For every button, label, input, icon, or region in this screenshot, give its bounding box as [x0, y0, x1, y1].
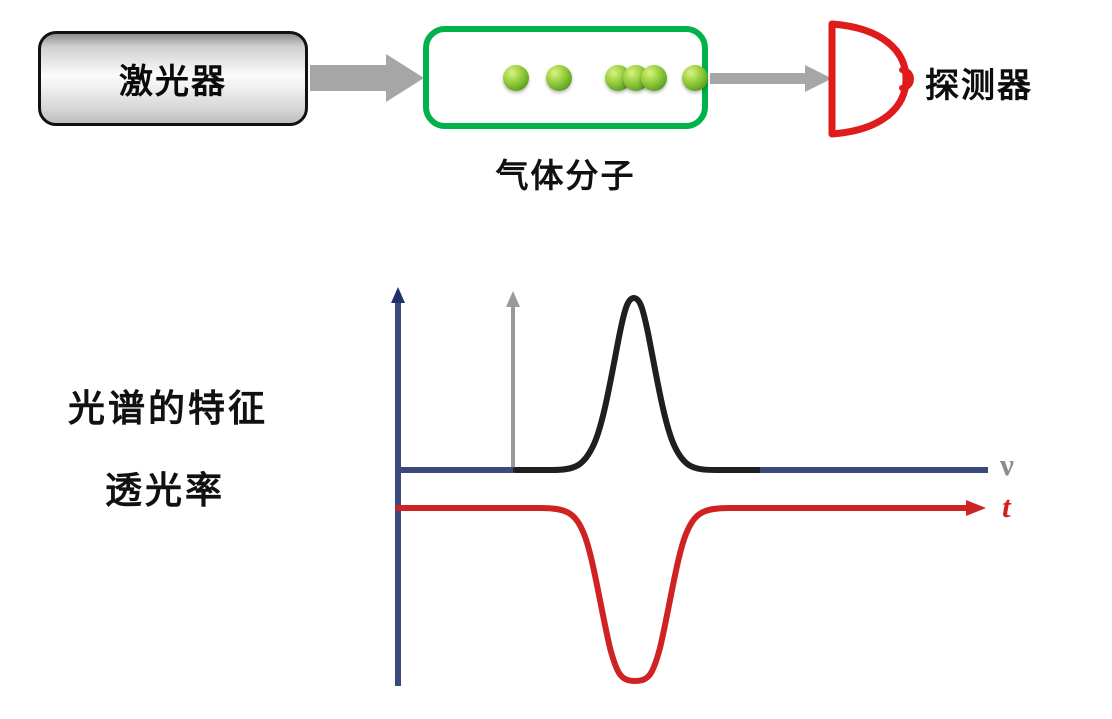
- plot-vector-layer: [0, 0, 1112, 719]
- diagram-canvas: 激光器 气体分子 探测器 光谱的特征 透光率: [0, 0, 1112, 719]
- transmission-dip-curve: [398, 500, 986, 681]
- time-axis-label: t: [1002, 489, 1011, 525]
- absorption-peak-curve: [516, 298, 762, 470]
- intensity-axis: [391, 287, 405, 686]
- frequency-axis-label: ν: [1000, 447, 1014, 483]
- vertical-marker-arrow-icon: [506, 291, 520, 470]
